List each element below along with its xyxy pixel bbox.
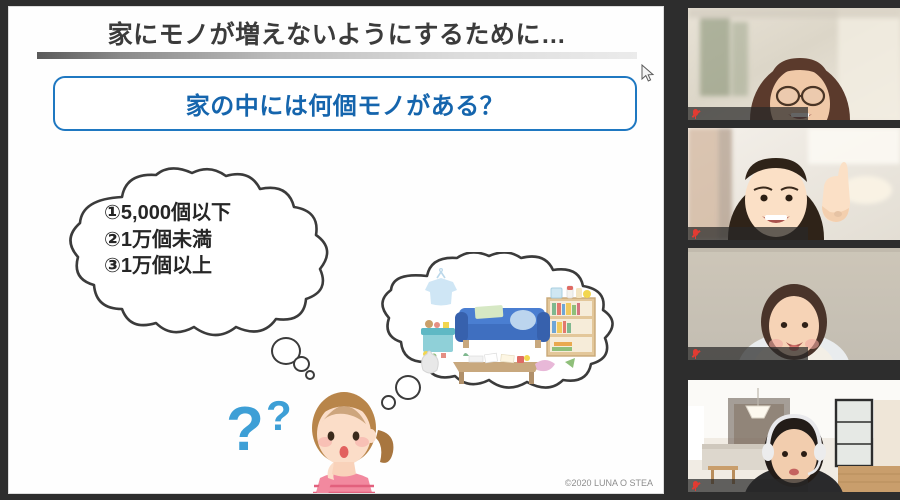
participant-video-3 [688,248,900,360]
participant-name-bar-4 [688,479,808,492]
option-item-1: ①5,000個以下 [104,200,334,227]
option-item-2: ②1万個未満 [104,227,334,254]
participant-tile-2[interactable] [688,128,900,240]
slide-title: 家にモノが増えないようにするために… [9,15,664,51]
bookshelf-illustration [547,286,595,356]
mic-muted-icon [692,229,699,239]
question-text: 家の中には何個モノがある？ [186,86,505,121]
participant-name-bar-2 [688,227,808,240]
shared-screen-area[interactable]: 家にモノが増えないようにするために… 家の中には何個モノがある？ ①5,000個… [0,0,672,500]
options-list: ①5,000個以下 ②1万個未満 ③1万個以上 [104,200,334,280]
svg-text:?: ? [226,395,264,464]
options-thought-cloud: ①5,000個以下 ②1万個未満 ③1万個以上 [64,167,364,342]
participant-name-bar-3 [688,347,808,360]
participant-name-bar-1 [688,107,808,120]
room-thought-cloud [379,252,629,392]
question-callout-box: 家の中には何個モノがある？ [53,76,637,131]
participant-video-2 [688,128,900,240]
participant-tile-4[interactable] [688,380,900,492]
copyright-notice: ©2020 LUNA O STEA [565,478,653,488]
thought-trail-bubble-small [305,370,315,380]
mic-muted-icon [692,481,699,491]
title-divider-rule [37,52,637,59]
screen-share-meeting-window: 家にモノが増えないようにするために… 家の中には何個モノがある？ ①5,000個… [0,0,900,500]
participant-filmstrip[interactable] [672,0,900,500]
participant-tile-3[interactable] [688,248,900,360]
thinking-girl-illustration [292,382,402,494]
svg-text:?: ? [266,392,292,439]
option-item-3: ③1万個以上 [104,253,334,280]
participant-video-1 [688,8,900,120]
participant-video-4 [688,380,900,492]
mic-muted-icon [692,109,699,119]
mic-muted-icon [692,349,699,359]
cloud-shape-icon [379,252,629,392]
presentation-slide: 家にモノが増えないようにするために… 家の中には何個モノがある？ ①5,000個… [8,6,664,494]
participant-tile-1[interactable] [688,8,900,120]
mouse-cursor-icon [641,64,655,82]
